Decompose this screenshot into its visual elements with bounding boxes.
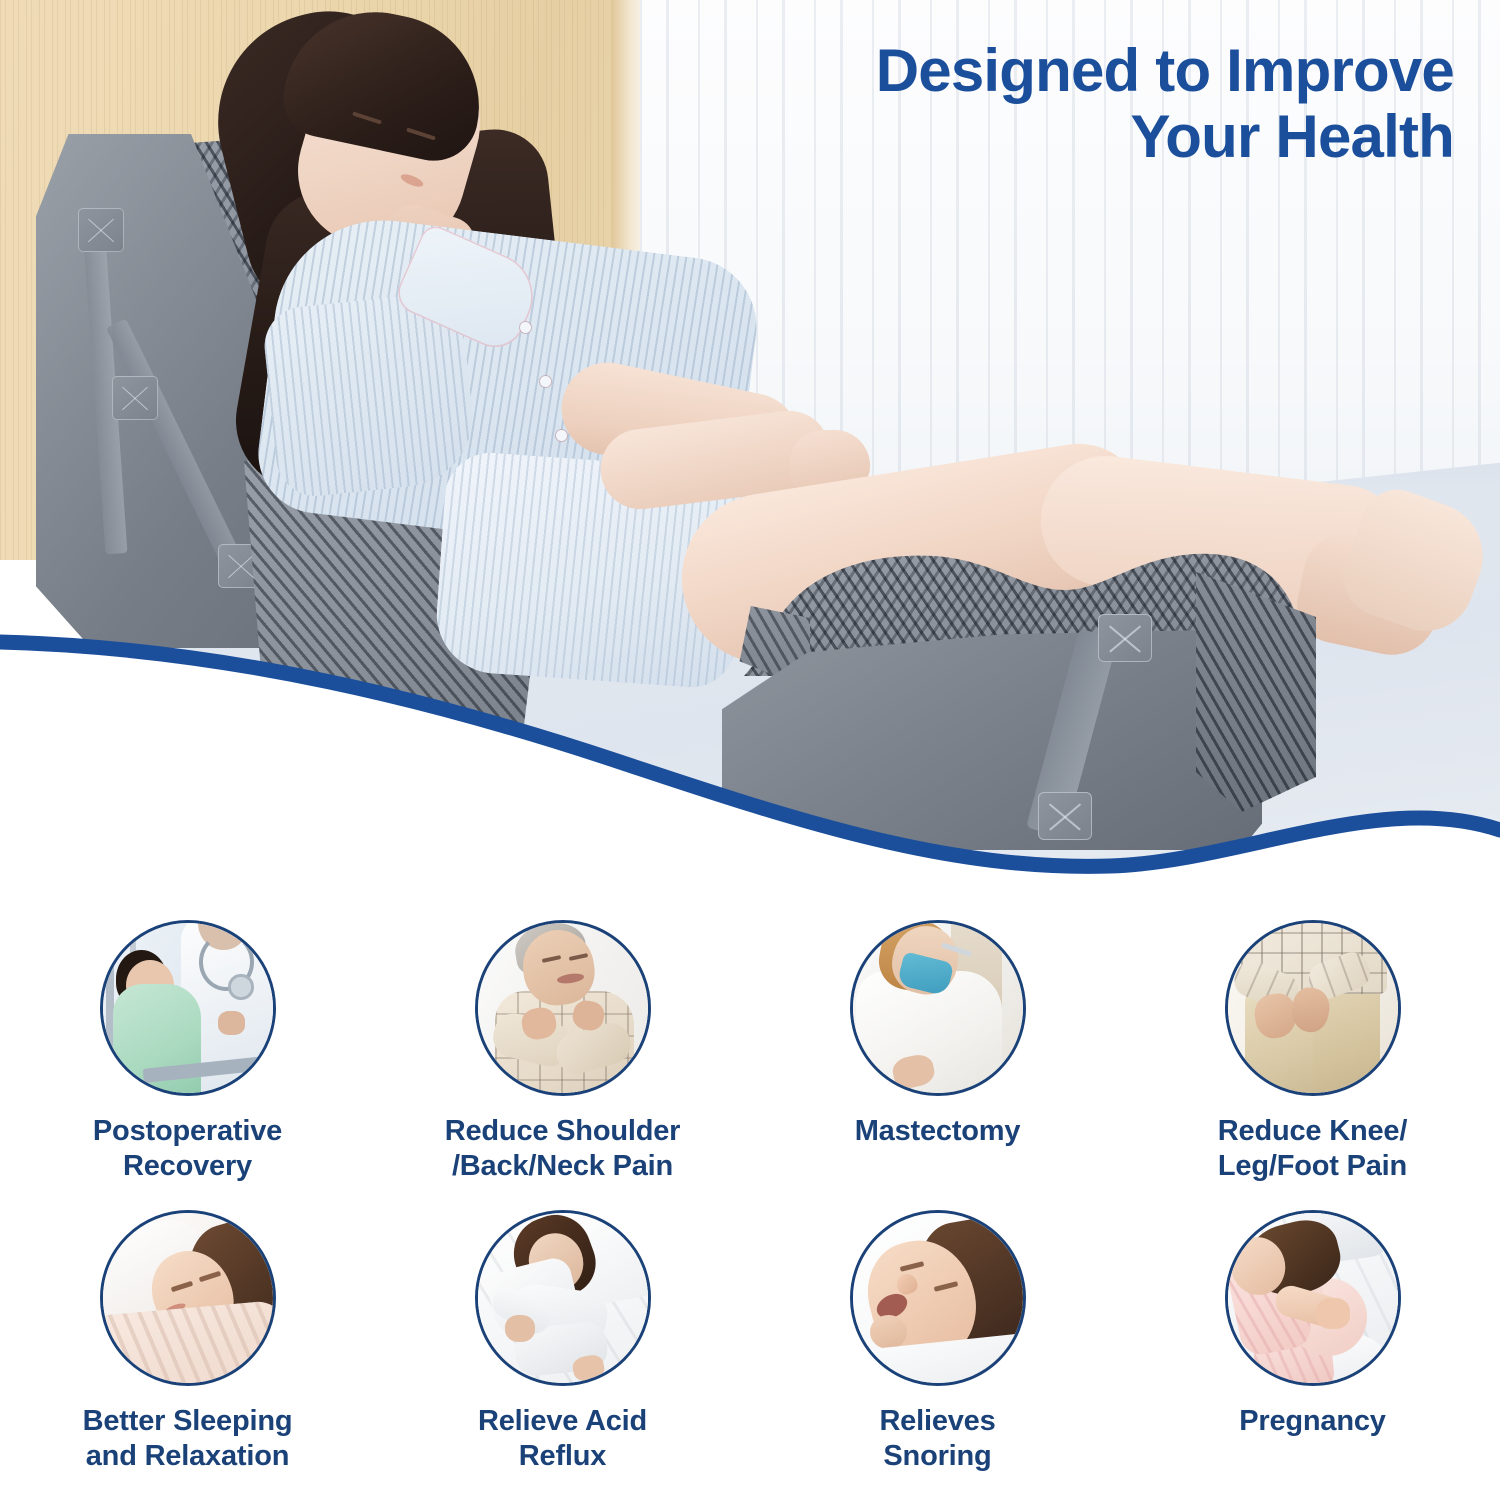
wedge-x-stitch-anchor (112, 376, 158, 420)
feature-pregnancy[interactable]: Pregnancy (1125, 1190, 1500, 1480)
page-title-line2: Your Health (694, 104, 1454, 170)
feature-better-sleeping[interactable]: Better Sleeping and Relaxation (0, 1190, 375, 1480)
snoring-icon (850, 1210, 1026, 1386)
feature-mastectomy[interactable]: Mastectomy (750, 900, 1125, 1190)
postoperative-recovery-icon (100, 920, 276, 1096)
shirt-button (540, 376, 551, 387)
feature-postoperative-recovery[interactable]: Postoperative Recovery (0, 900, 375, 1190)
wedge-x-stitch-anchor (78, 208, 124, 252)
feature-shoulder-back-neck-pain[interactable]: Reduce Shoulder /Back/Neck Pain (375, 900, 750, 1190)
mastectomy-icon (850, 920, 1026, 1096)
feature-knee-leg-foot-pain[interactable]: Reduce Knee/ Leg/Foot Pain (1125, 900, 1500, 1190)
feature-snoring[interactable]: Relieves Snoring (750, 1190, 1125, 1480)
feature-label: Reduce Shoulder /Back/Neck Pain (445, 1114, 681, 1185)
leg-elevation-pillow (700, 546, 1320, 856)
leg-pillow-front-panel (722, 630, 1262, 850)
feature-label: Mastectomy (855, 1114, 1021, 1149)
page-title: Designed to Improve Your Health (694, 38, 1454, 170)
shirt-button (556, 430, 567, 441)
feature-label: Reduce Knee/ Leg/Foot Pain (1218, 1114, 1407, 1185)
leg-pillow-x-stitch-anchor (1098, 614, 1152, 662)
knee-leg-foot-pain-icon (1225, 920, 1401, 1096)
pregnancy-icon (1225, 1210, 1401, 1386)
feature-acid-reflux[interactable]: Relieve Acid Reflux (375, 1190, 750, 1480)
leg-pillow-x-stitch-anchor (1038, 792, 1092, 840)
feature-label: Relieve Acid Reflux (478, 1404, 647, 1475)
feature-label: Postoperative Recovery (93, 1114, 282, 1185)
leg-pillow-right-mesh (1196, 562, 1316, 812)
better-sleeping-icon (100, 1210, 276, 1386)
feature-label: Better Sleeping and Relaxation (83, 1404, 293, 1475)
shirt-button (520, 322, 531, 333)
page-title-line1: Designed to Improve (876, 37, 1454, 104)
feature-label: Pregnancy (1239, 1404, 1386, 1439)
acid-reflux-icon (475, 1210, 651, 1386)
feature-grid: Postoperative Recovery Reduce Shoulder /… (0, 900, 1500, 1500)
shoulder-back-neck-pain-icon (475, 920, 651, 1096)
feature-label: Relieves Snoring (879, 1404, 995, 1475)
